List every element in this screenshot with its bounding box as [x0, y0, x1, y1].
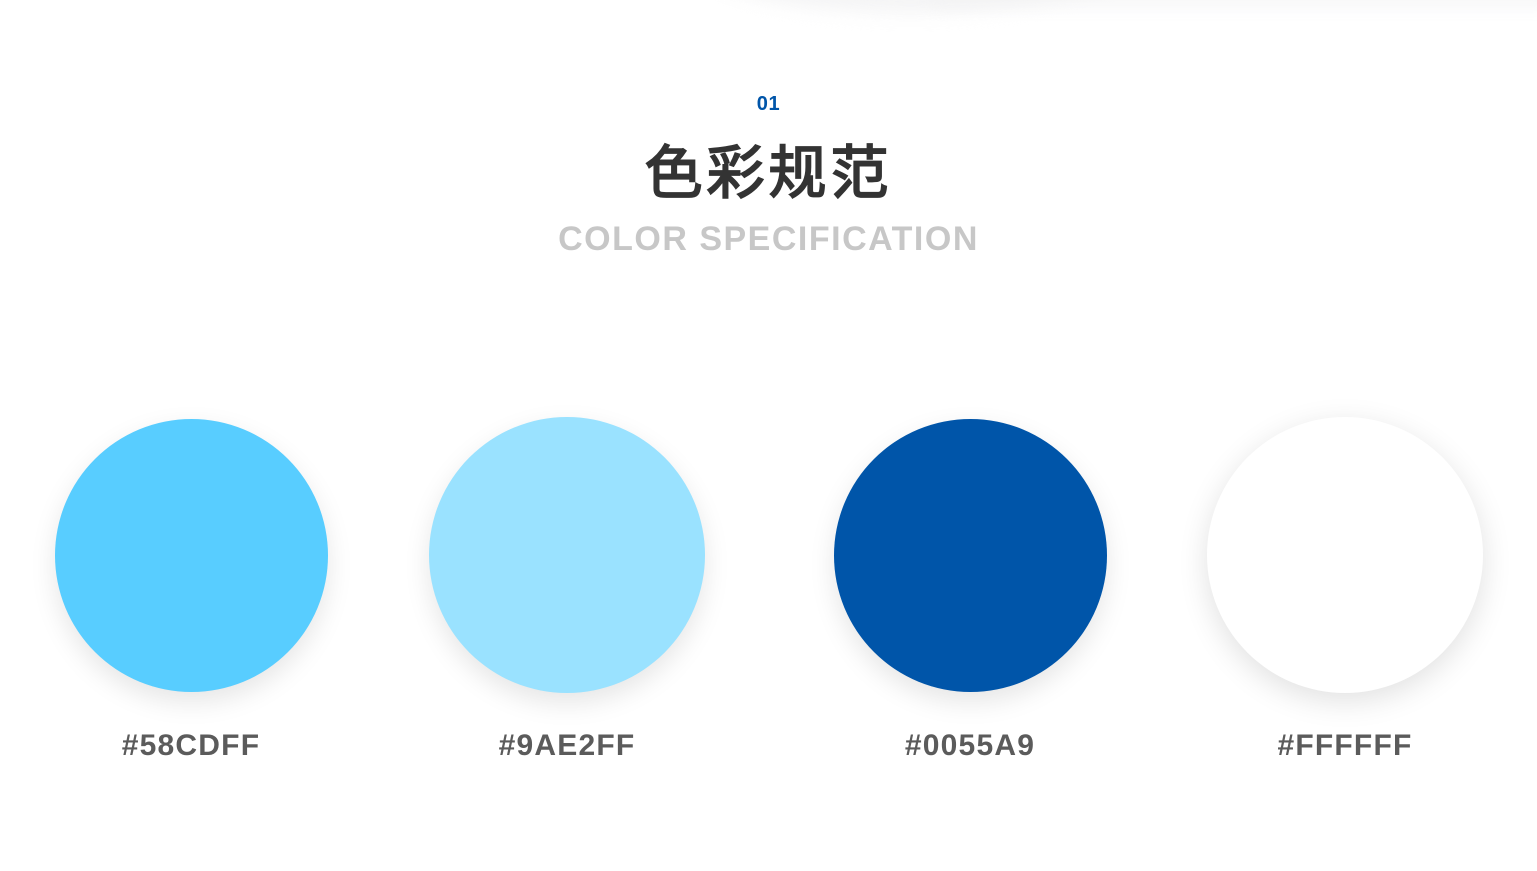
color-swatch-2[interactable]: #0055A9	[825, 405, 1115, 825]
page-title: 色彩规范	[0, 142, 1537, 207]
page-subtitle: COLOR SPECIFICATION	[0, 221, 1537, 258]
color-swatch-3[interactable]: #FFFFFF	[1200, 405, 1490, 825]
color-hex-label-2: #0055A9	[825, 731, 1115, 761]
color-circle-holder-3	[1200, 405, 1490, 705]
color-hex-label-0: #58CDFF	[46, 731, 336, 761]
color-circle-2[interactable]	[834, 419, 1107, 692]
color-hex-label-3: #FFFFFF	[1200, 731, 1490, 761]
section-heading: 01 色彩规范 COLOR SPECIFICATION	[0, 0, 1537, 258]
color-circle-3[interactable]	[1207, 417, 1483, 693]
color-circle-0[interactable]	[55, 419, 328, 692]
color-hex-label-1: #9AE2FF	[422, 731, 712, 761]
color-swatch-row: #58CDFF #9AE2FF #0055A9 #FFFFFF	[0, 405, 1537, 825]
color-swatch-0[interactable]: #58CDFF	[46, 405, 336, 825]
color-swatch-1[interactable]: #9AE2FF	[422, 405, 712, 825]
color-circle-holder-2	[825, 405, 1115, 705]
color-circle-1[interactable]	[429, 417, 705, 693]
color-circle-holder-0	[46, 405, 336, 705]
color-circle-holder-1	[422, 405, 712, 705]
section-number: 01	[0, 94, 1537, 114]
